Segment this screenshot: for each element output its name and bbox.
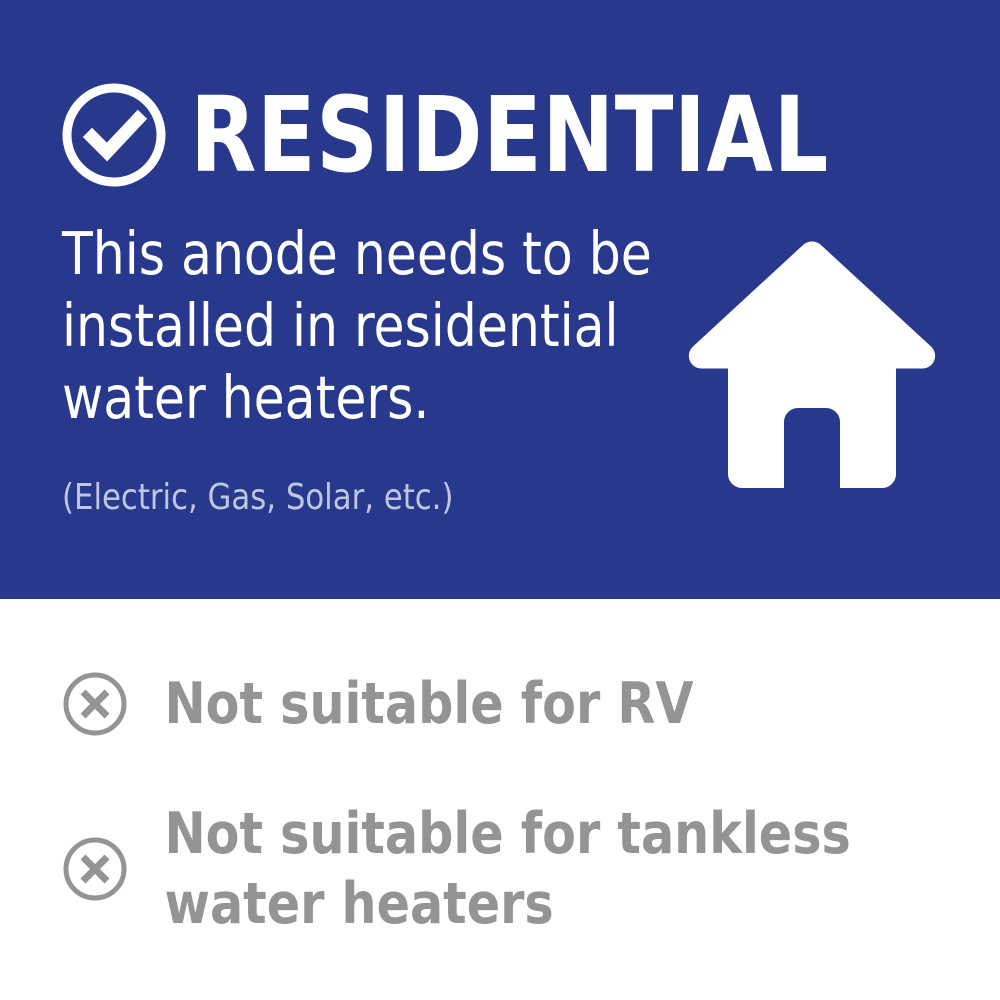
hero-body-text: This anode needs to be installed in resi…: [62, 218, 662, 434]
exclusion-text-2: Not suitable for tankless water heaters: [128, 799, 851, 939]
page-title: RESIDENTIAL: [168, 83, 829, 187]
hero-body-line-2: installed in residential: [62, 290, 632, 362]
circle-x-icon: [62, 836, 128, 902]
check-circle-icon: [60, 81, 168, 189]
hero-body-line-1: This anode needs to be: [62, 218, 632, 290]
hero-title-row: RESIDENTIAL: [60, 76, 886, 194]
hero-panel: RESIDENTIAL This anode needs to be insta…: [0, 0, 1000, 599]
exclusions-section: Not suitable for RV Not suitable for tan…: [0, 599, 1000, 1000]
list-item: Not suitable for RV: [62, 669, 717, 739]
exclusion-line: water heaters: [164, 869, 850, 939]
exclusion-text-1: Not suitable for RV: [128, 669, 693, 739]
list-item: Not suitable for tankless water heaters: [62, 799, 881, 939]
residential-info-card: RESIDENTIAL This anode needs to be insta…: [0, 0, 1000, 1000]
circle-x-icon: [62, 671, 128, 737]
exclusion-line: Not suitable for RV: [164, 671, 693, 737]
hero-body-line-3: water heaters.: [62, 362, 632, 434]
hero-note: (Electric, Gas, Solar, etc.): [62, 476, 453, 520]
exclusion-line: Not suitable for tankless: [164, 801, 850, 867]
